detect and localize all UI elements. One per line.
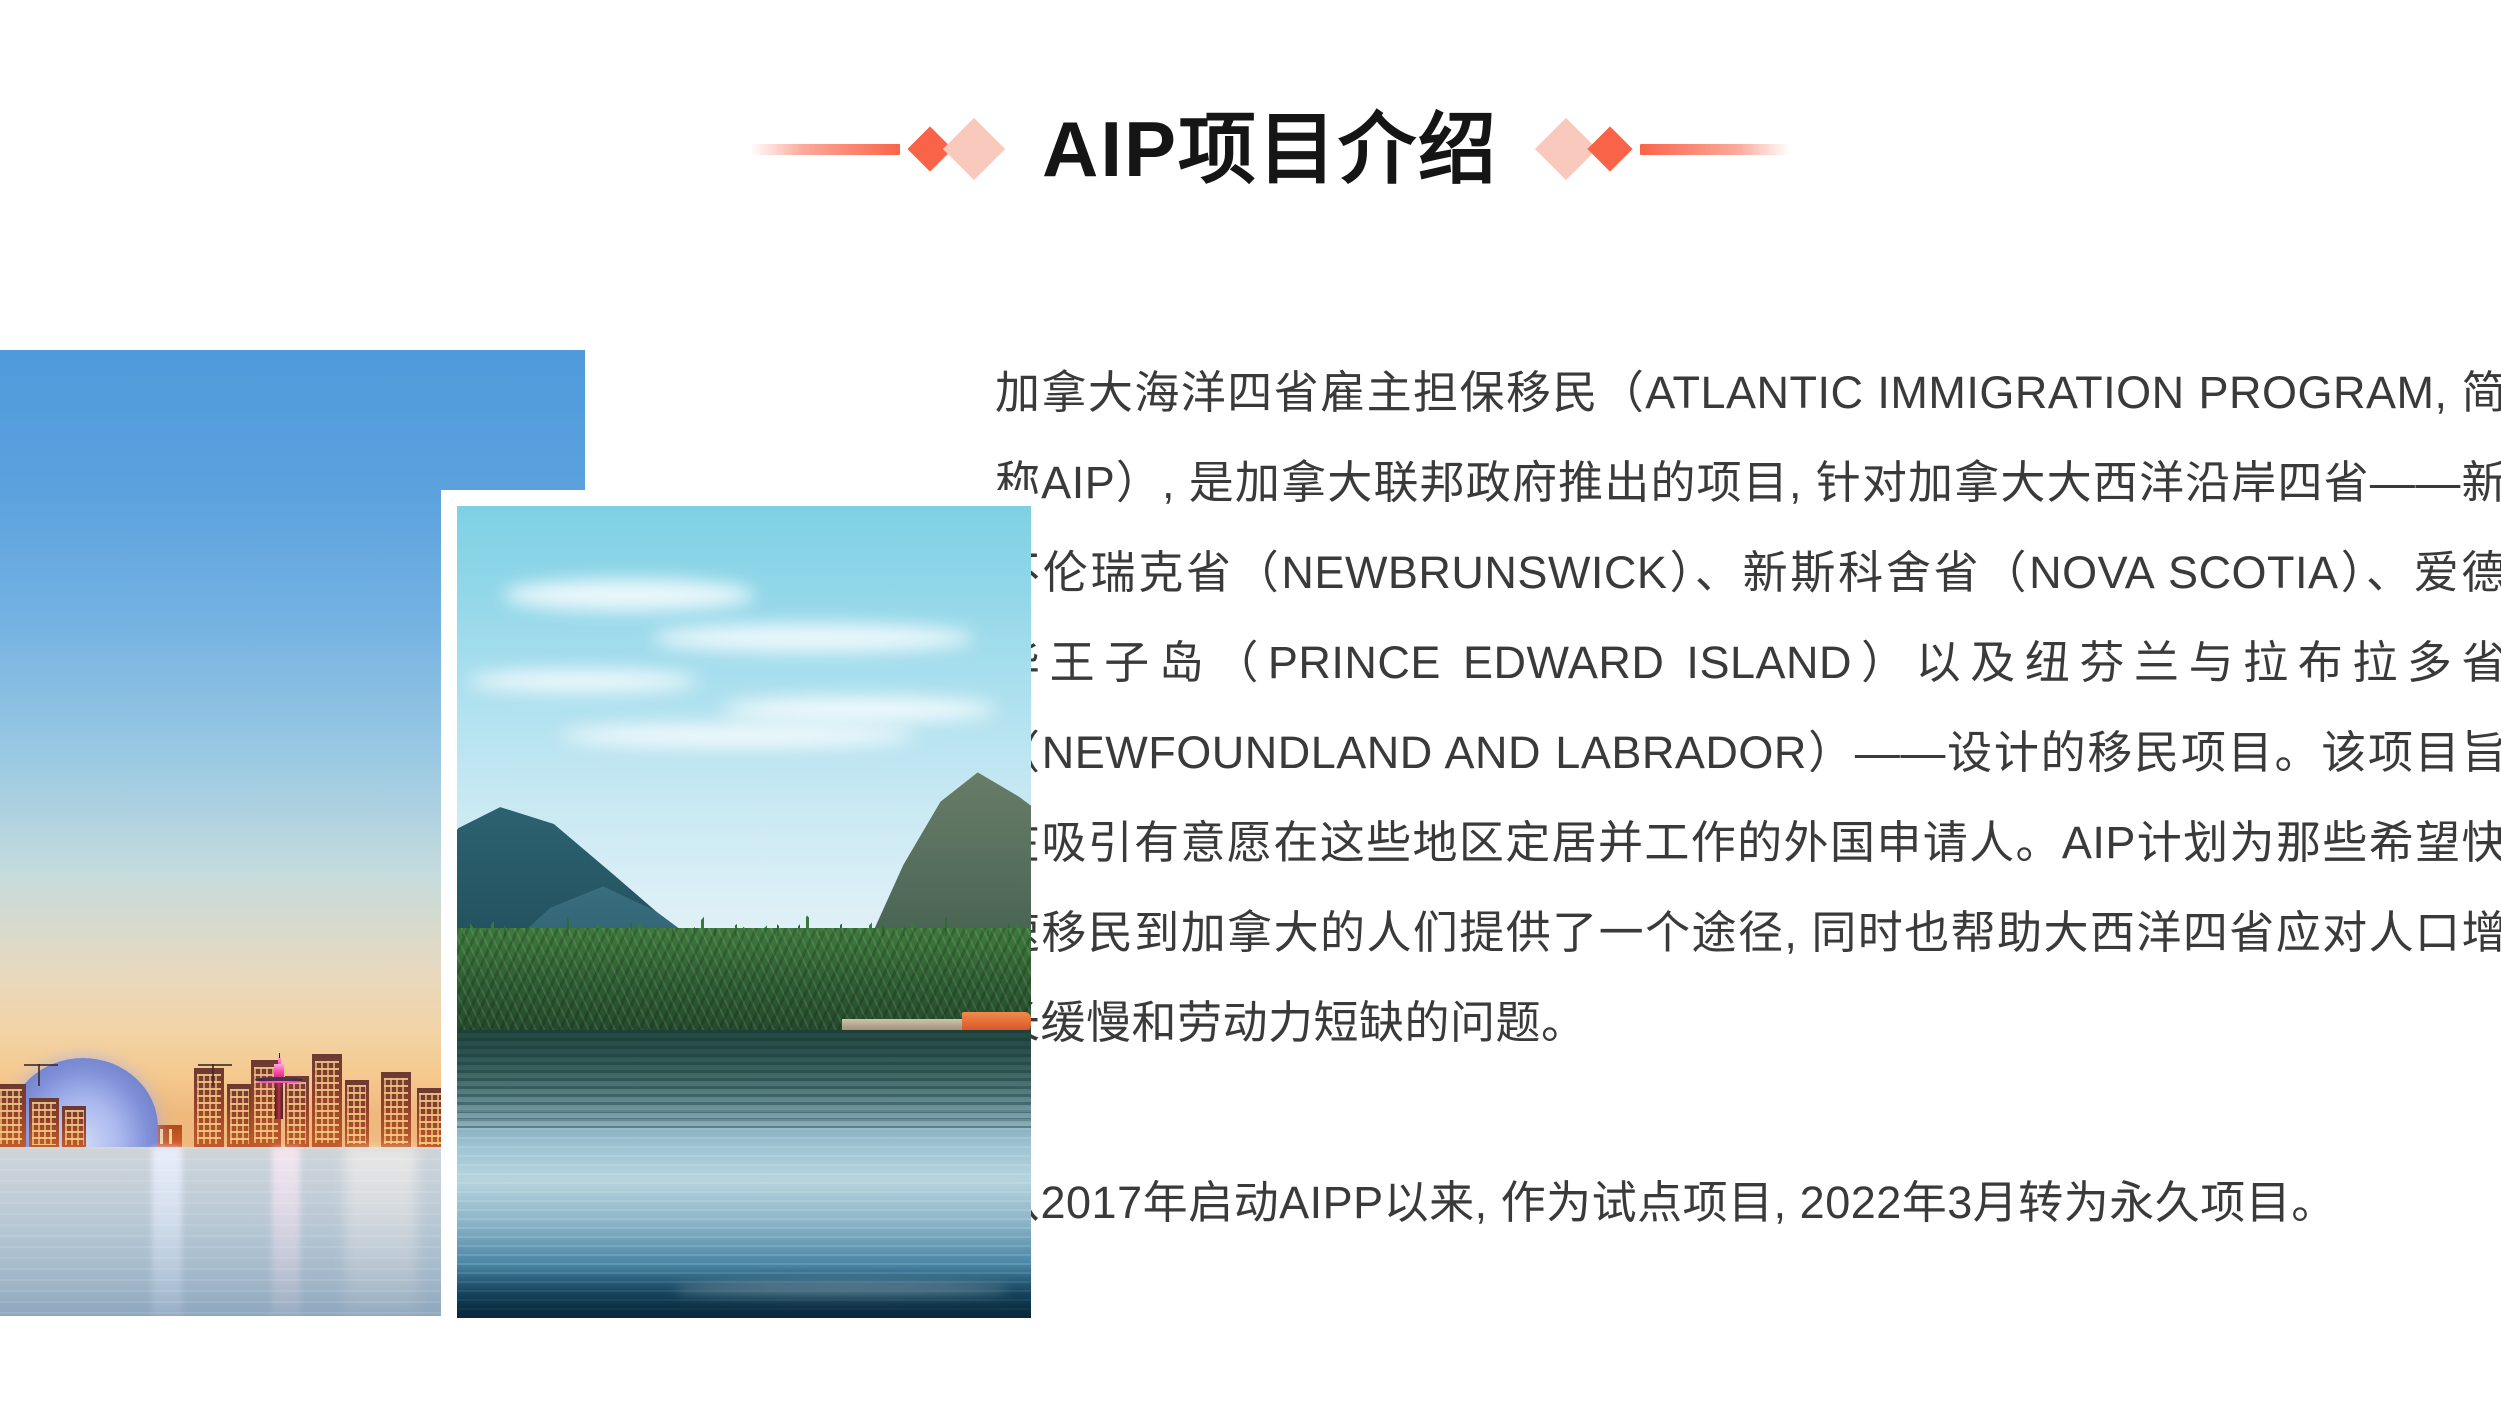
building bbox=[62, 1106, 86, 1147]
cloud bbox=[503, 579, 756, 611]
cloud bbox=[652, 624, 973, 651]
lake-water bbox=[457, 1030, 1031, 1318]
page-title: AIP项目介绍 bbox=[996, 110, 1544, 188]
building bbox=[381, 1072, 411, 1147]
foreground-wave bbox=[457, 1266, 1031, 1318]
atlantic-lake-photo bbox=[441, 490, 1031, 1318]
ornament-line-right bbox=[1640, 144, 1790, 155]
building bbox=[0, 1084, 26, 1147]
ornament-line-left bbox=[750, 144, 900, 155]
building bbox=[194, 1068, 224, 1147]
construction-crane bbox=[212, 1064, 214, 1086]
body-paragraph-1: 加拿大海洋四省雇主担保移民（ATLANTIC IMMIGRATION PROGR… bbox=[995, 348, 2501, 1068]
construction-crane bbox=[38, 1064, 40, 1086]
cloud bbox=[468, 670, 698, 693]
building bbox=[227, 1084, 251, 1147]
body-copy: 加拿大海洋四省雇主担保移民（ATLANTIC IMMIGRATION PROGR… bbox=[995, 348, 2501, 1248]
diamond-solid-right-icon bbox=[1587, 126, 1632, 171]
cn-tower-shaft bbox=[275, 1081, 283, 1119]
diamond-ornament-right bbox=[1544, 127, 1790, 171]
cn-tower bbox=[269, 1058, 288, 1119]
building bbox=[29, 1098, 59, 1147]
orange-boat bbox=[962, 1012, 1031, 1031]
building bbox=[417, 1088, 444, 1147]
cn-tower-needle bbox=[279, 1053, 280, 1058]
forest-shoreline bbox=[457, 928, 1031, 1034]
cn-tower-ring bbox=[256, 1081, 302, 1083]
diamond-ornament-left bbox=[750, 127, 996, 171]
title-row: AIP项目介绍 bbox=[740, 88, 1800, 210]
body-paragraph-2: 从2017年启动AIPP以来, 作为试点项目, 2022年3月转为永久项目。 bbox=[995, 1158, 2501, 1248]
forest-texture bbox=[457, 928, 1031, 1034]
cloud bbox=[560, 724, 916, 747]
slide-root: AIP项目介绍 bbox=[0, 0, 2501, 1406]
cloud bbox=[721, 697, 997, 722]
cn-tower-upper bbox=[274, 1064, 284, 1077]
building bbox=[345, 1080, 369, 1147]
building bbox=[312, 1054, 342, 1147]
